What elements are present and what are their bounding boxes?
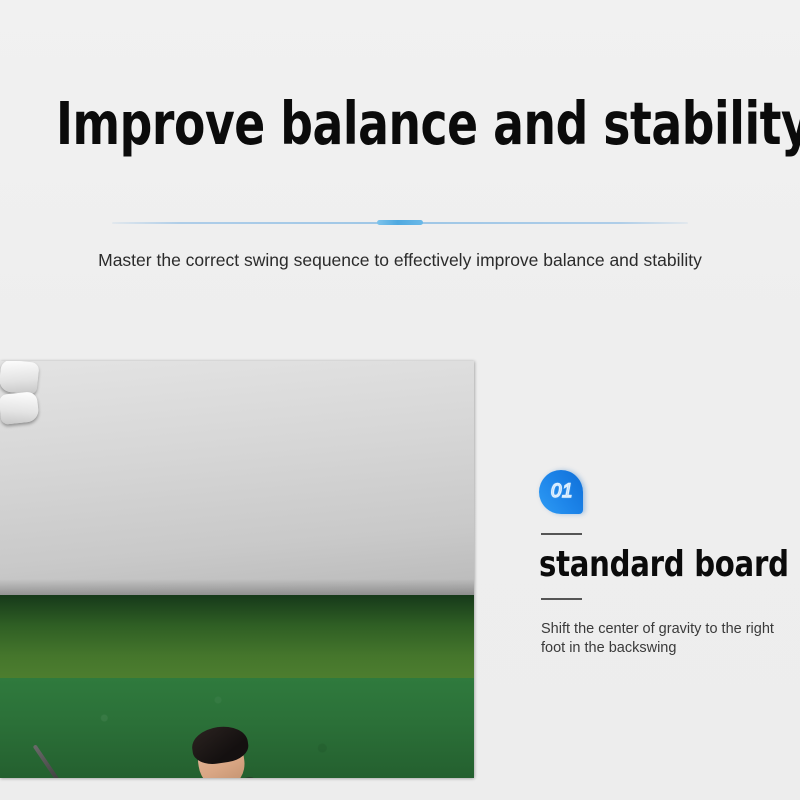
photo-turf-back xyxy=(0,595,474,683)
golfer-photo xyxy=(0,361,474,778)
promo-page: Improve balance and stability Master the… xyxy=(0,0,800,800)
panel-rule-above xyxy=(541,533,582,535)
page-subtitle: Master the correct swing sequence to eff… xyxy=(0,248,800,272)
photo-wall xyxy=(0,361,474,595)
panel-rule-below xyxy=(541,598,582,600)
golfer-left-shoe xyxy=(0,361,40,395)
divider-accent xyxy=(377,220,423,225)
page-title: Improve balance and stability xyxy=(56,93,744,155)
feature-description: Shift the center of gravity to the right… xyxy=(541,620,785,658)
feature-panel: 01 standard board Shift the center of gr… xyxy=(539,470,791,658)
header-divider xyxy=(112,219,688,227)
golfer-right-shoe xyxy=(0,391,39,425)
step-badge-number: 01 xyxy=(539,470,583,514)
feature-title: standard board xyxy=(539,546,766,584)
step-badge: 01 xyxy=(539,470,583,514)
header-section: Improve balance and stability Master the… xyxy=(0,0,800,340)
